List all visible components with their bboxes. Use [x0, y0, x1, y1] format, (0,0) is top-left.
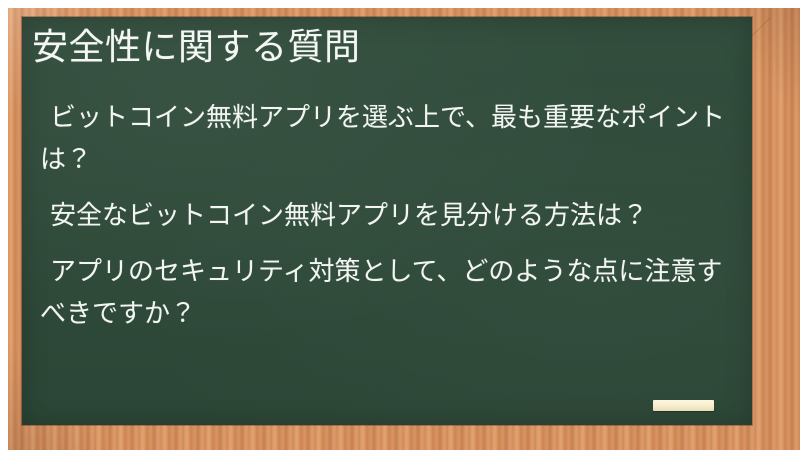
list-item: 安全なビットコイン無料アプリを見分ける方法は？ — [40, 195, 740, 237]
slide-canvas: 安全性に関する質問 ビットコイン無料アプリを選ぶ上で、最も重要なポイントは？ 安… — [0, 0, 800, 450]
list-item: ビットコイン無料アプリを選ぶ上で、最も重要なポイントは？ — [40, 97, 740, 181]
question-list: ビットコイン無料アプリを選ぶ上で、最も重要なポイントは？ 安全なビットコイン無料… — [40, 97, 740, 335]
chalkboard: 安全性に関する質問 ビットコイン無料アプリを選ぶ上で、最も重要なポイントは？ 安… — [22, 17, 752, 425]
list-item: アプリのセキュリティ対策として、どのような点に注意すべきですか？ — [40, 251, 740, 335]
slide-content: 安全性に関する質問 ビットコイン無料アプリを選ぶ上で、最も重要なポイントは？ 安… — [22, 17, 752, 425]
page-title: 安全性に関する質問 — [32, 25, 361, 71]
chalk-stick-icon — [653, 400, 714, 411]
